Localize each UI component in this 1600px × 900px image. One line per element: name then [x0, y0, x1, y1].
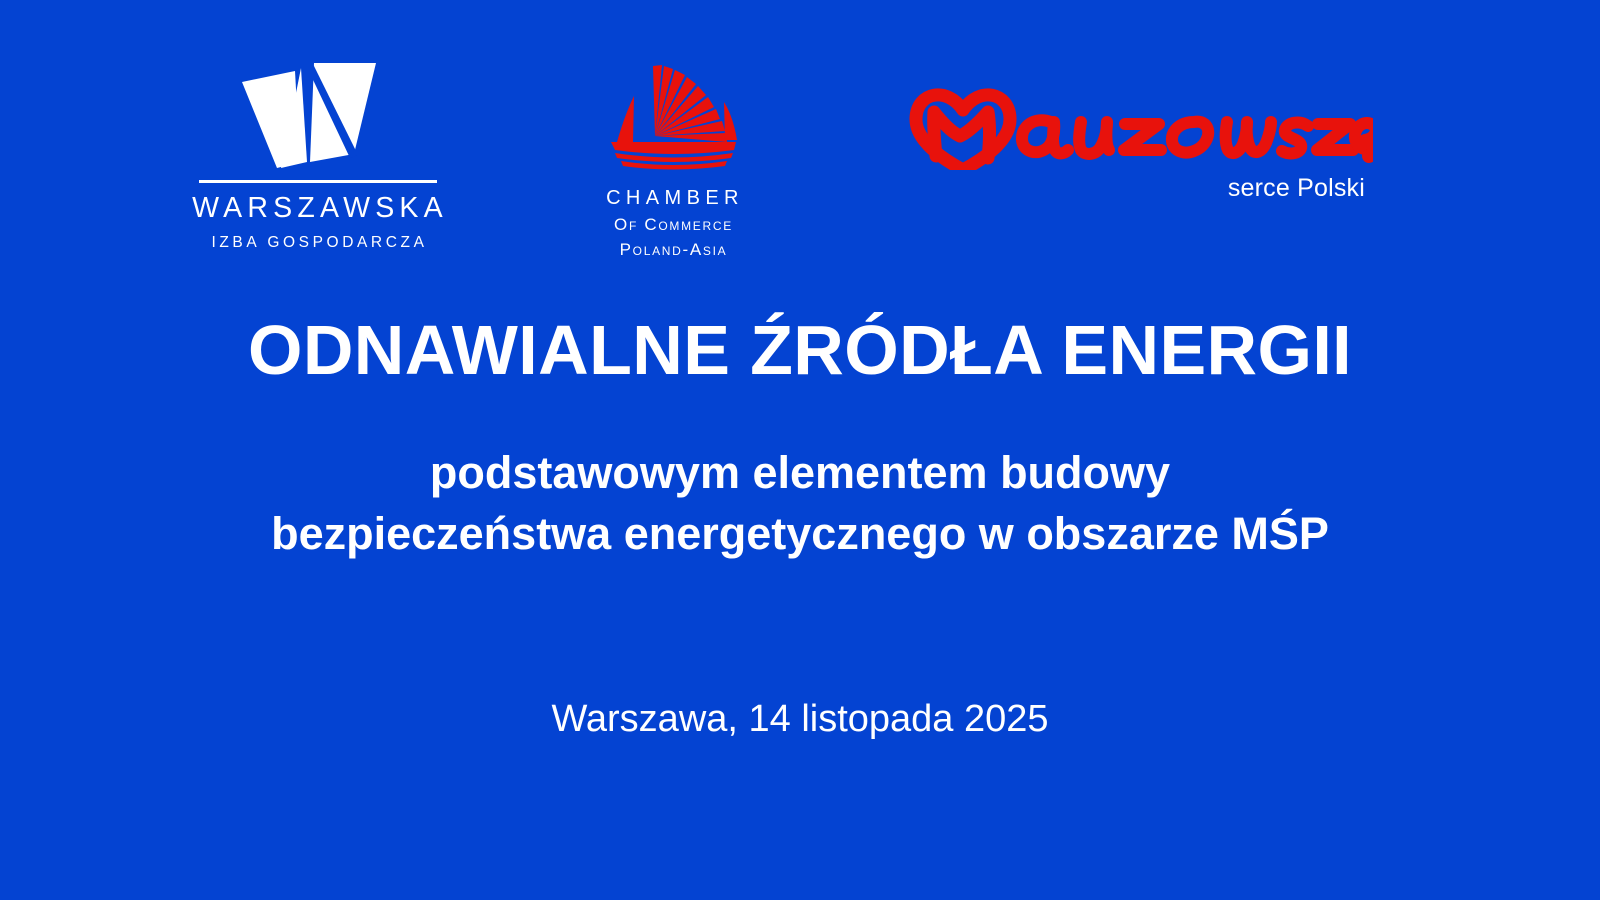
logo-band: WARSZAWSKA IZBA GOSPODARCZA: [0, 0, 1600, 270]
warszawska-subtitle: IZBA GOSPODARCZA: [207, 235, 427, 251]
logo-mazowsze-serce-polski: serce Polski: [893, 78, 1373, 201]
logo-chamber-of-commerce-poland-asia: CHAMBER Of Commerce Poland-Asia: [575, 62, 770, 258]
slide-title: ODNAWIALNE ŹRÓDŁA ENERGII: [0, 313, 1600, 387]
mazowsze-tagline: serce Polski: [1228, 176, 1365, 201]
chamber-line-3: Poland-Asia: [618, 241, 728, 258]
mazowsze-heart-wordmark: [903, 78, 1373, 170]
slide-subtitle: podstawowym elementem budowy bezpieczeńs…: [0, 443, 1600, 565]
slide-subtitle-line-1: podstawowym elementem budowy: [0, 443, 1600, 504]
warszawska-name: WARSZAWSKA: [187, 194, 448, 223]
warszawska-divider-rule: [199, 180, 437, 183]
warszawska-w-mark: [228, 58, 408, 168]
slide-footer-location-date: Warszawa, 14 listopada 2025: [0, 697, 1600, 743]
chamber-line-2: Of Commerce: [612, 216, 733, 233]
logo-warszawska-izba-gospodarcza: WARSZAWSKA IZBA GOSPODARCZA: [185, 58, 450, 250]
chamber-line-1: CHAMBER: [601, 188, 744, 208]
presentation-slide: WARSZAWSKA IZBA GOSPODARCZA: [0, 0, 1600, 900]
slide-subtitle-line-2: bezpieczeństwa energetycznego w obszarze…: [0, 504, 1600, 565]
chinese-junk-boat-icon: [603, 62, 743, 174]
